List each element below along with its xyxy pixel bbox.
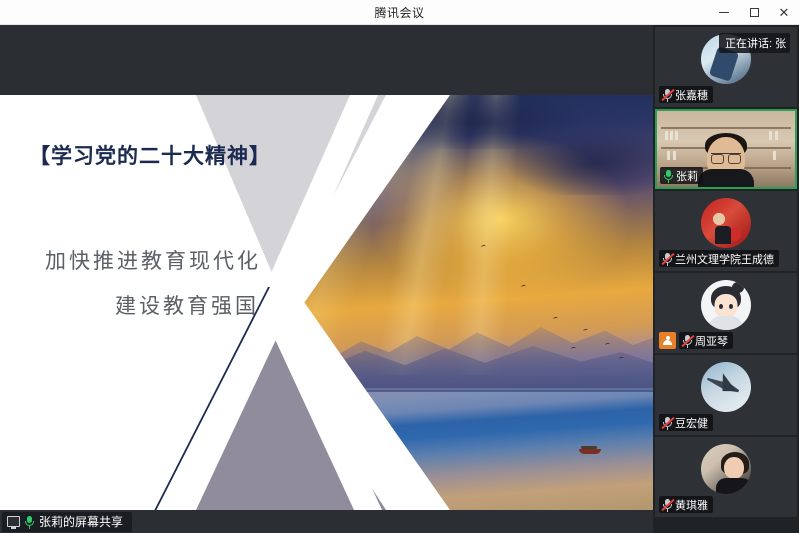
tencent-meeting-window: 腾讯会议 ✕ <box>0 0 799 533</box>
participant-name: 黄琪雅 <box>675 497 708 513</box>
participant-name: 周亚琴 <box>695 333 728 349</box>
speaking-banner: 正在讲话: 张 <box>719 33 790 53</box>
screen-share-status-bar: 张莉的屏幕共享 <box>0 510 653 533</box>
avatar <box>701 444 751 494</box>
slide-subtitle-line-2: 建设教育强国 <box>42 290 332 320</box>
shared-screen-area[interactable]: 【学习党的二十大精神】 加快推进教育现代化 建设教育强国 张莉的屏幕共享 <box>0 25 653 533</box>
participant-tile-zhouyaqin[interactable]: 周亚琴 <box>655 273 797 353</box>
participant-name-pill: 黄琪雅 <box>659 496 713 513</box>
mic-muted-icon <box>682 334 693 348</box>
avatar <box>701 280 751 330</box>
meeting-stage: 【学习党的二十大精神】 加快推进教育现代化 建设教育强国 张莉的屏幕共享 <box>0 25 799 533</box>
mic-muted-icon <box>662 498 673 512</box>
minimize-icon <box>719 12 729 13</box>
participant-name-pill: 张嘉穗 <box>659 86 713 103</box>
mic-muted-icon <box>662 252 673 266</box>
participant-tile-wangchengde[interactable]: 兰州文理学院王成德 <box>655 191 797 271</box>
close-button[interactable]: ✕ <box>769 0 799 25</box>
monitor-icon <box>7 516 20 527</box>
slide-text-block: 【学习党的二十大精神】 加快推进教育现代化 建设教育强国 <box>0 95 400 510</box>
slide-subtitle-line-1: 加快推进教育现代化 <box>8 245 298 275</box>
window-title: 腾讯会议 <box>374 4 424 21</box>
participant-tile-zhangli[interactable]: 张莉 <box>655 109 797 189</box>
participant-tile-zhangjiasui[interactable]: 张嘉穗 正在讲话: 张 <box>655 27 797 107</box>
cloud <box>503 125 653 195</box>
avatar <box>701 198 751 248</box>
maximize-button[interactable] <box>739 0 769 25</box>
avatar <box>701 362 751 412</box>
torso <box>698 169 754 187</box>
participant-sidebar[interactable]: 张嘉穗 正在讲话: 张 <box>653 25 799 533</box>
mic-muted-icon <box>662 88 673 102</box>
speaking-label: 正在讲话: 张 <box>725 35 786 51</box>
participant-name: 兰州文理学院王成德 <box>675 251 774 267</box>
boat <box>579 449 601 454</box>
mic-on-icon <box>24 515 35 529</box>
participant-name-pill: 兰州文理学院王成德 <box>659 250 779 267</box>
close-icon: ✕ <box>779 6 790 19</box>
title-bar: 腾讯会议 ✕ <box>0 0 799 25</box>
host-badge <box>659 332 676 349</box>
screen-share-label: 张莉的屏幕共享 <box>39 513 123 530</box>
participant-name-pill: 张莉 <box>660 167 703 184</box>
window-controls: ✕ <box>709 0 799 25</box>
screen-share-indicator[interactable]: 张莉的屏幕共享 <box>2 512 132 532</box>
participant-name: 张嘉穗 <box>675 87 708 103</box>
participant-name: 张莉 <box>676 168 698 184</box>
participant-tile-huangqiya[interactable]: 黄琪雅 <box>655 437 797 517</box>
mic-muted-icon <box>662 416 673 430</box>
slide-title: 【学习党的二十大精神】 <box>10 140 290 170</box>
glasses <box>711 153 741 161</box>
maximize-icon <box>750 8 759 17</box>
presentation-slide: 【学习党的二十大精神】 加快推进教育现代化 建设教育强国 <box>0 95 653 510</box>
minimize-button[interactable] <box>709 0 739 25</box>
mic-on-icon <box>663 169 674 183</box>
participant-name-pill: 豆宏健 <box>659 414 713 431</box>
participant-tile-douhongjian[interactable]: 豆宏健 <box>655 355 797 435</box>
participant-name: 豆宏健 <box>675 415 708 431</box>
participant-name-pill: 周亚琴 <box>679 332 733 349</box>
